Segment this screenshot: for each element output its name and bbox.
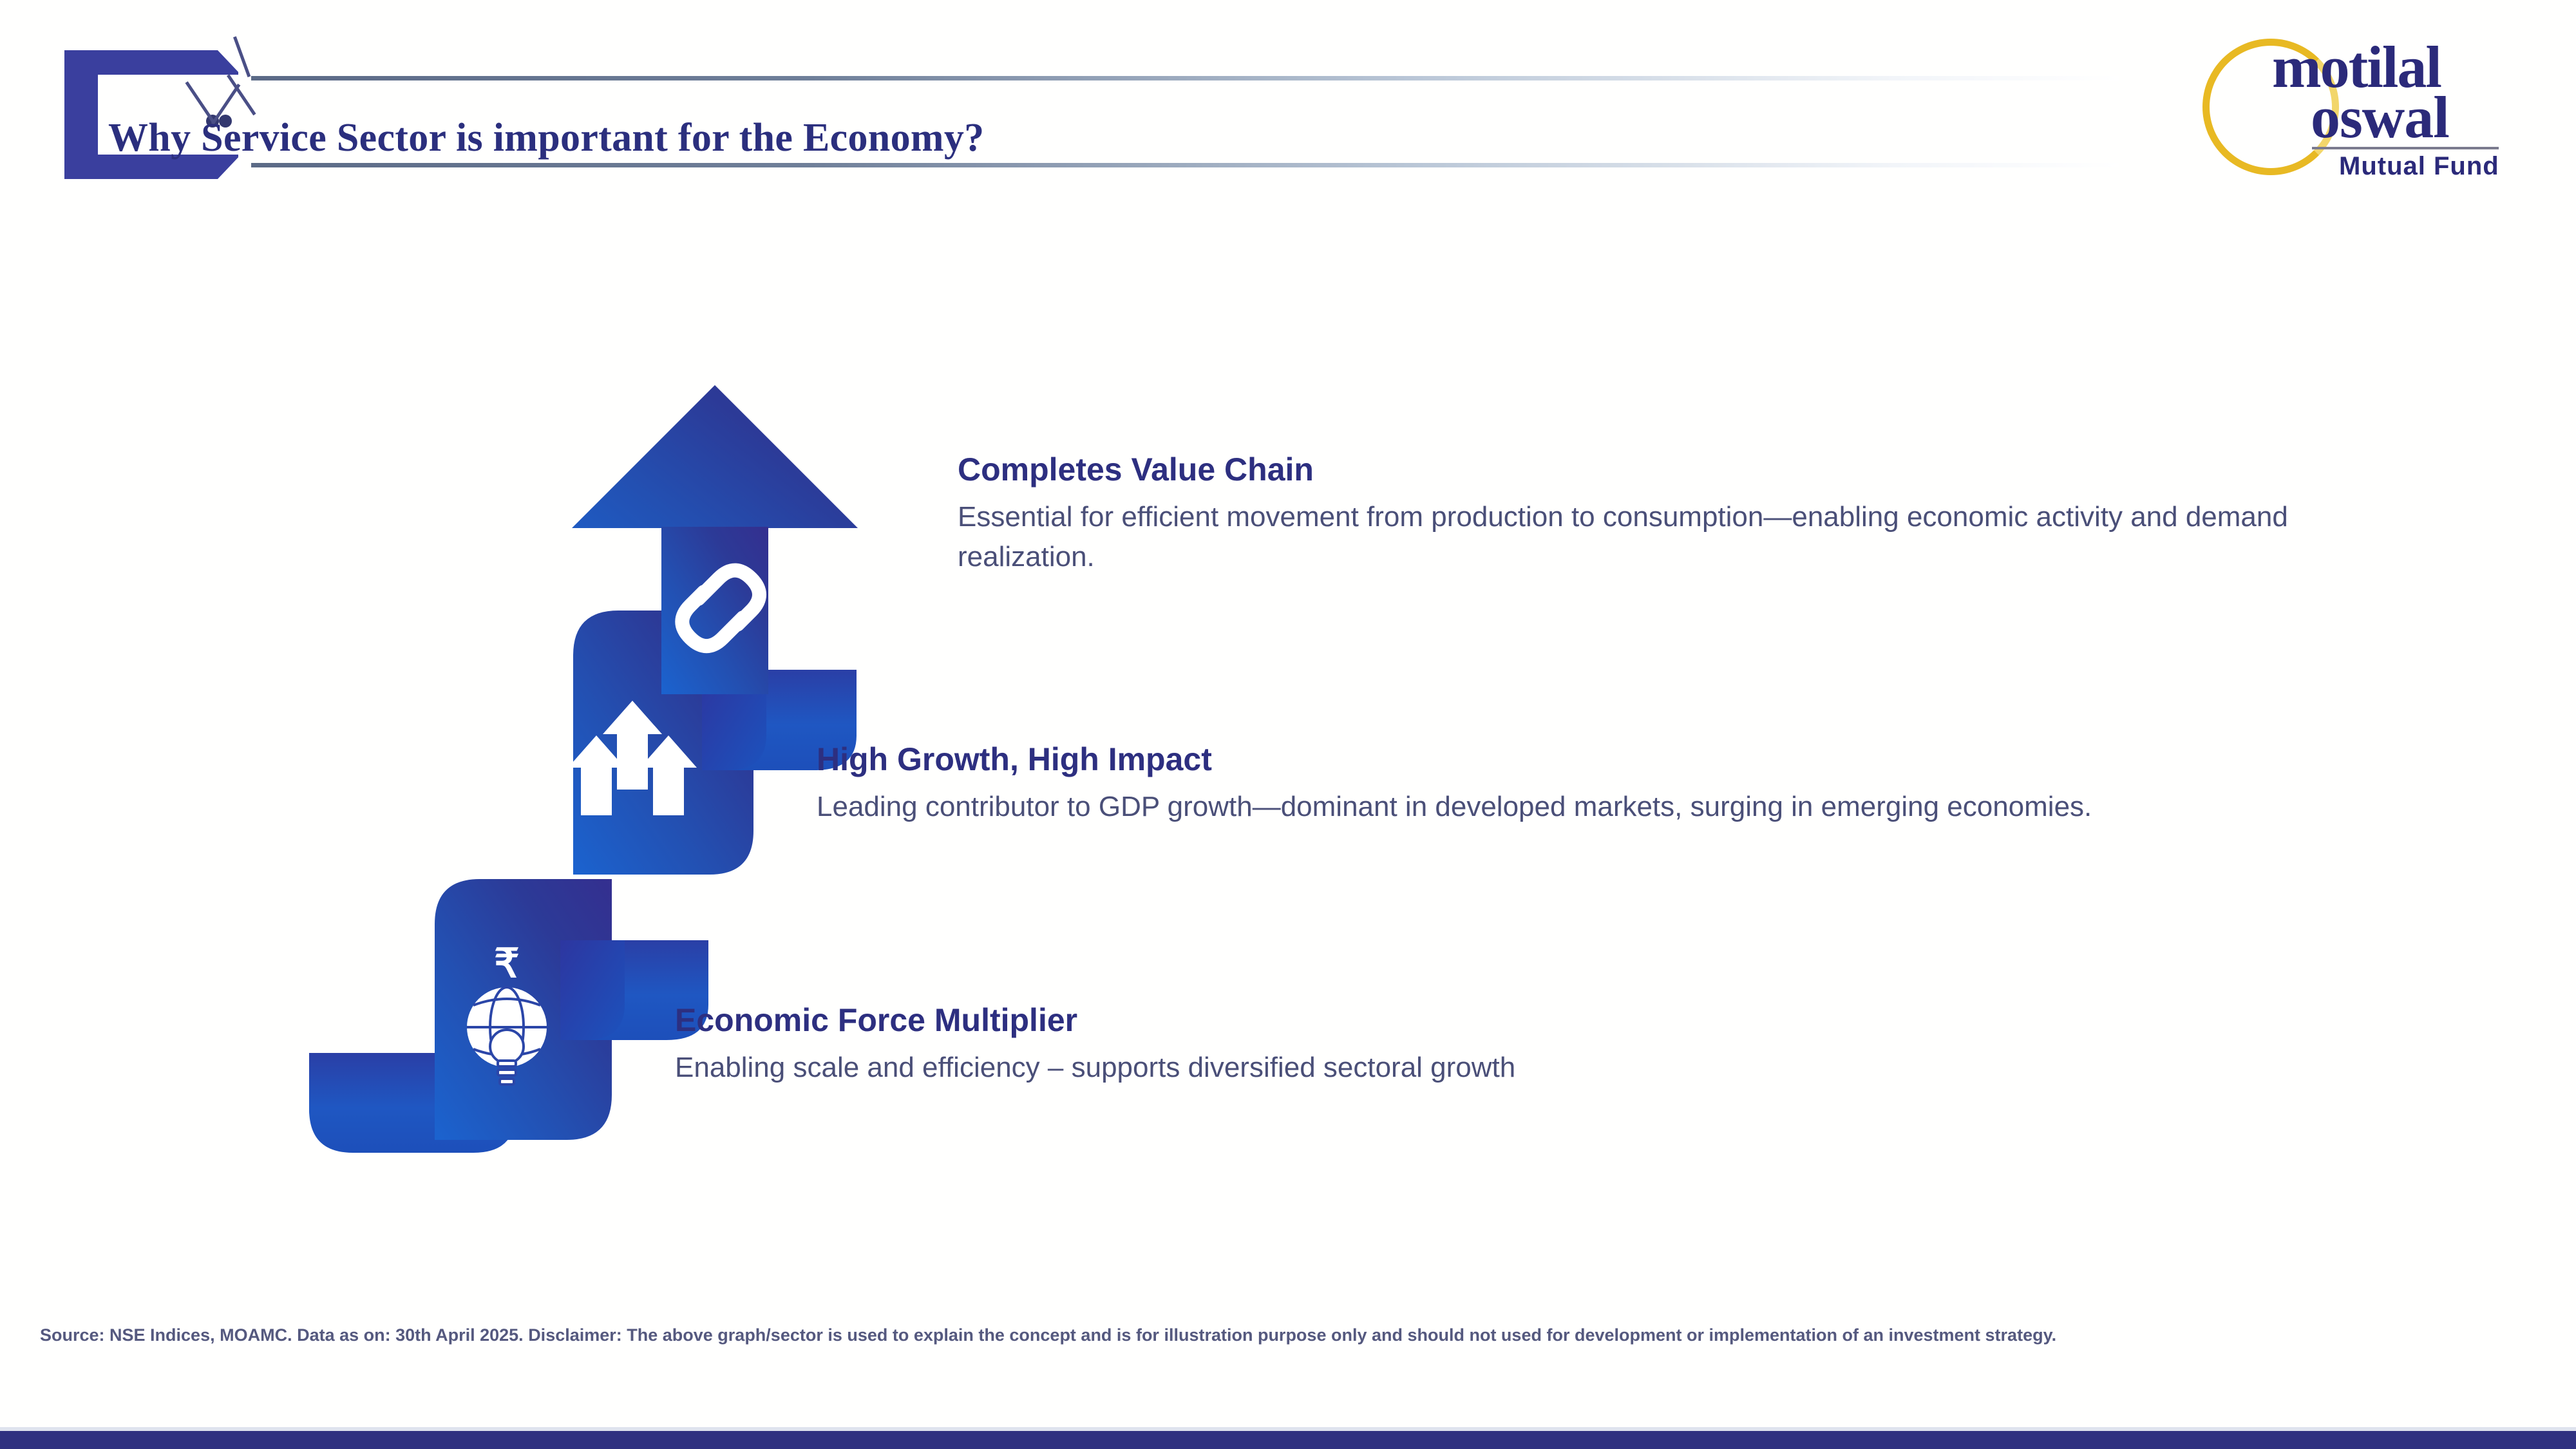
block-body: Essential for efficient movement from pr… (958, 497, 2362, 577)
block-title: Completes Value Chain (958, 451, 2362, 488)
block-body: Enabling scale and efficiency – supports… (675, 1048, 2156, 1088)
content-block-completes-value-chain: Completes Value Chain Essential for effi… (958, 451, 2362, 577)
page-header: Why Service Sector is important for the … (0, 0, 2576, 193)
block-body: Leading contributor to GDP growth—domina… (817, 787, 2221, 827)
content-block-economic-force-multiplier: Economic Force Multiplier Enabling scale… (675, 1001, 2156, 1088)
page-title: Why Service Sector is important for the … (108, 103, 1525, 174)
footer-bar (0, 1431, 2576, 1449)
content-block-high-growth-high-impact: High Growth, High Impact Leading contrib… (817, 741, 2221, 827)
block-title: Economic Force Multiplier (675, 1001, 2156, 1039)
brand-logo: motilal oswal Mutual Fund (2202, 32, 2524, 180)
logo-divider (2312, 147, 2499, 149)
logo-word-oswal: oswal (2311, 88, 2449, 147)
source-disclaimer-note: Source: NSE Indices, MOAMC. Data as on: … (40, 1319, 2526, 1351)
header-rule-top (251, 76, 2119, 80)
block-title: High Growth, High Impact (817, 741, 2221, 778)
svg-text:₹: ₹ (494, 942, 519, 986)
logo-tagline: Mutual Fund (2339, 152, 2499, 180)
